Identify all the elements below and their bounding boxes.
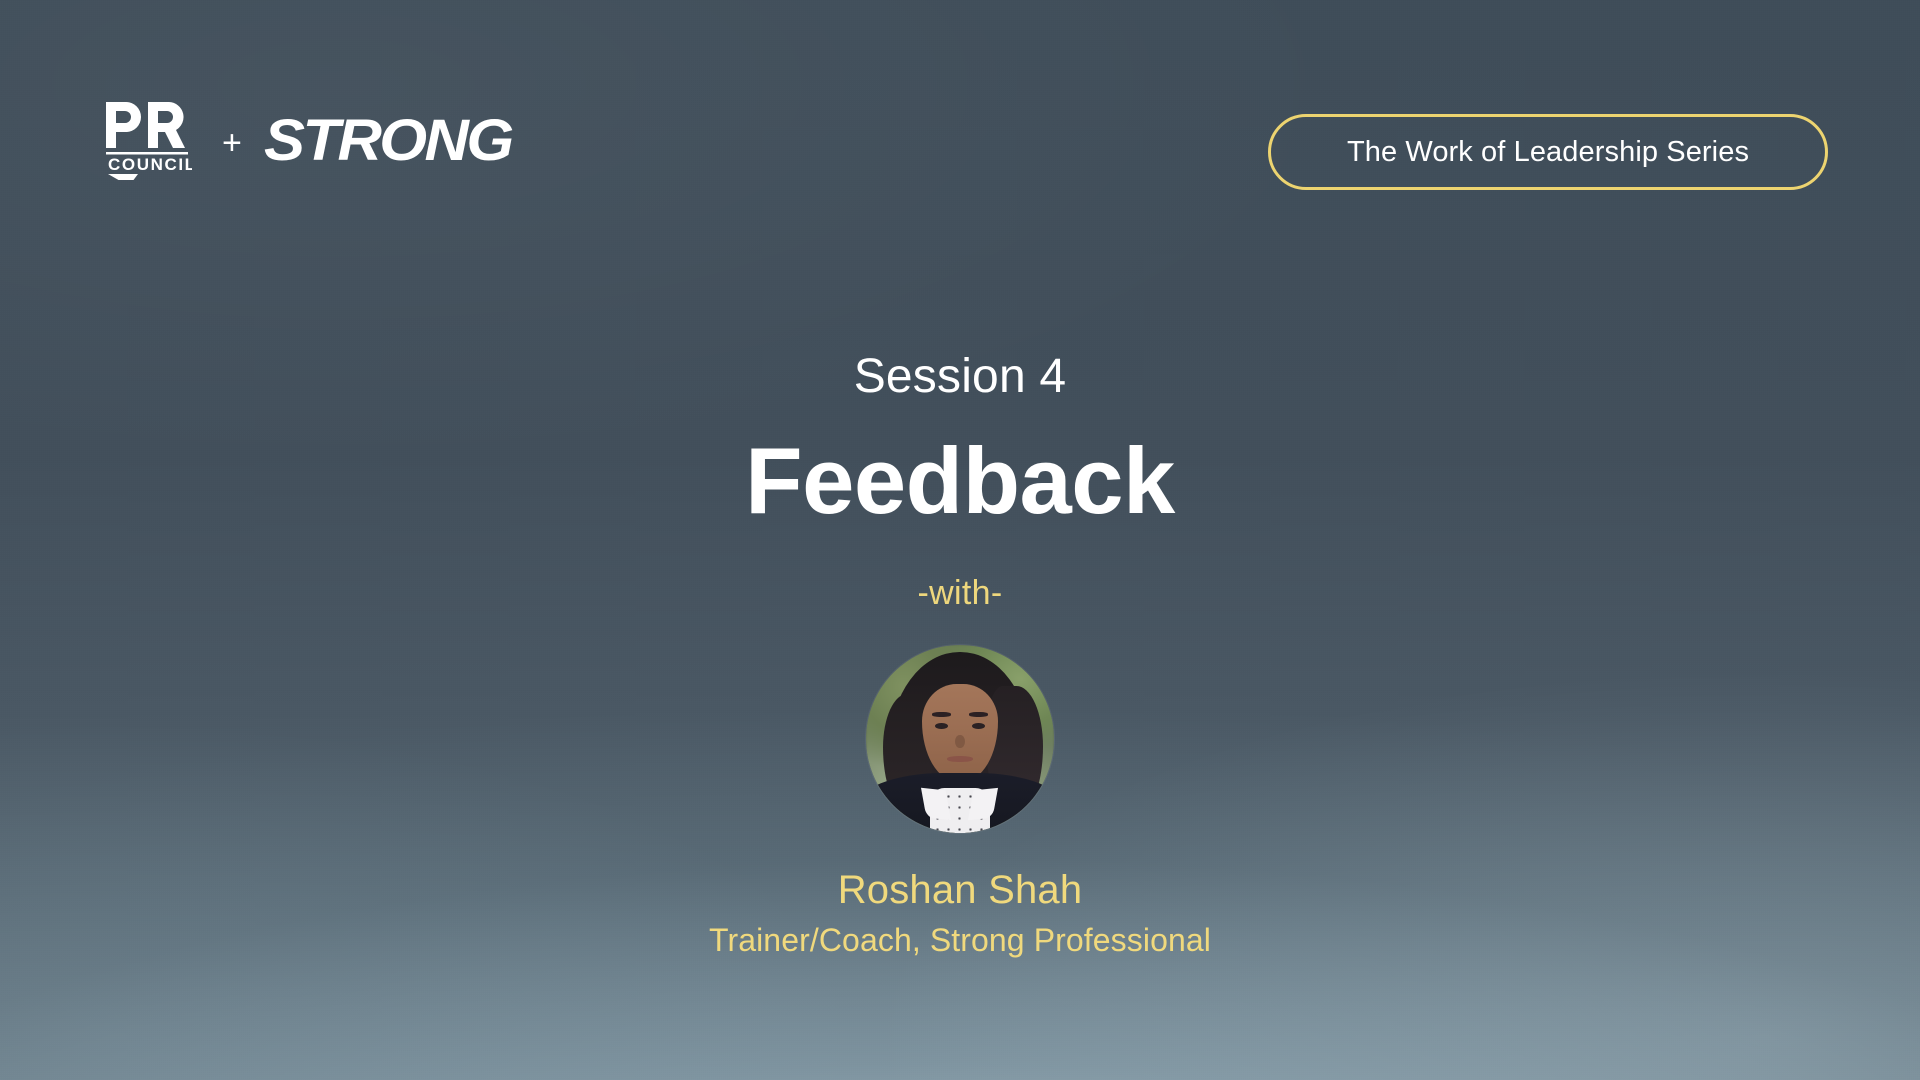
speaker-photo	[866, 645, 1054, 833]
photo-eye-left	[935, 723, 948, 729]
photo-nose	[955, 735, 964, 748]
series-badge[interactable]: The Work of Leadership Series	[1268, 114, 1828, 190]
speaker-avatar	[866, 645, 1054, 833]
photo-mouth	[947, 756, 973, 762]
strong-logo: STRONG	[264, 110, 526, 172]
logo-plus-separator: +	[222, 126, 242, 160]
pr-council-logo: COUNCIL	[104, 98, 192, 180]
svg-text:COUNCIL: COUNCIL	[108, 155, 192, 174]
slide-main-content: Session 4 Feedback -with-	[0, 352, 1920, 959]
series-badge-label: The Work of Leadership Series	[1347, 136, 1749, 169]
with-label: -with-	[918, 574, 1003, 613]
session-title: Feedback	[745, 428, 1175, 533]
photo-eyebrow-left	[932, 712, 951, 717]
speaker-role: Trainer/Coach, Strong Professional	[709, 921, 1211, 959]
speaker-name: Roshan Shah	[838, 867, 1083, 913]
session-label: Session 4	[854, 352, 1067, 402]
photo-eyebrow-right	[969, 712, 988, 717]
svg-text:STRONG: STRONG	[264, 110, 513, 172]
presentation-slide: COUNCIL + STRONG The Work of Leadership …	[0, 0, 1920, 1080]
slide-header: COUNCIL + STRONG The Work of Leadership …	[0, 0, 1920, 260]
logo-lockup: COUNCIL + STRONG	[104, 98, 526, 180]
